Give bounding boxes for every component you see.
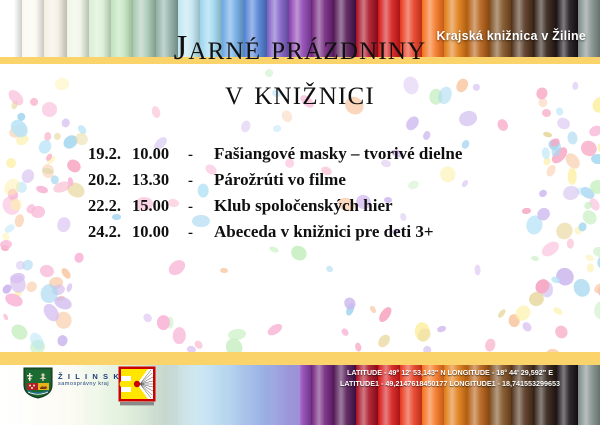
confetti-dot bbox=[25, 280, 39, 294]
confetti-dot bbox=[173, 327, 187, 345]
programme-separator: - bbox=[188, 225, 214, 242]
programme-date: 22.2. bbox=[88, 196, 132, 216]
confetti-dot bbox=[553, 264, 577, 288]
confetti-dot bbox=[539, 239, 561, 260]
confetti-dot bbox=[534, 205, 552, 223]
confetti-dot bbox=[9, 198, 22, 212]
confetti-dot bbox=[25, 203, 37, 215]
confetti-dot bbox=[543, 131, 553, 138]
confetti-dot bbox=[484, 338, 497, 352]
confetti-dot bbox=[1, 176, 23, 199]
programme-event: Klub spoločenských hier bbox=[214, 196, 393, 216]
confetti-dot bbox=[65, 157, 83, 175]
confetti-dot bbox=[415, 326, 433, 344]
confetti-dot bbox=[553, 323, 570, 340]
confetti-dot bbox=[1, 245, 9, 252]
confetti-dot bbox=[41, 163, 56, 179]
confetti-dot bbox=[474, 265, 481, 276]
krajska-kniznica-logo-icon bbox=[118, 366, 156, 406]
programme-event: Fašiangové masky – tvorivé dielne bbox=[214, 144, 462, 164]
confetti-dot bbox=[42, 167, 54, 175]
confetti-dot bbox=[45, 154, 56, 165]
confetti-dot bbox=[56, 295, 66, 302]
confetti-dot bbox=[64, 180, 86, 201]
confetti-dot bbox=[377, 305, 394, 324]
programme-row: 24.2.10.00-Abeceda v knižnici pre deti 3… bbox=[88, 222, 462, 248]
confetti-dot bbox=[546, 138, 561, 153]
confetti-dot bbox=[437, 325, 448, 333]
confetti-dot bbox=[157, 315, 171, 331]
confetti-dot bbox=[527, 290, 547, 309]
confetti-dot bbox=[543, 157, 552, 167]
confetti-dot bbox=[376, 332, 392, 349]
confetti-dot bbox=[552, 306, 563, 316]
confetti-dot bbox=[340, 327, 350, 337]
programme-event: Párožrúti vo filme bbox=[214, 170, 346, 190]
confetti-dot bbox=[403, 114, 420, 132]
programme-time: 10.00 bbox=[132, 222, 188, 242]
confetti-dot bbox=[540, 281, 553, 297]
confetti-dot bbox=[587, 263, 594, 272]
confetti-dot bbox=[345, 302, 356, 316]
confetti-dot bbox=[14, 133, 30, 148]
confetti-dot bbox=[0, 239, 13, 250]
confetti-dot bbox=[39, 283, 60, 305]
confetti-dot bbox=[541, 147, 550, 159]
confetti-dot bbox=[496, 309, 506, 320]
confetti-dot bbox=[550, 138, 562, 148]
confetti-dot bbox=[354, 342, 362, 352]
coordinates-decimal: LATITUDE1 - 49,2147618450177 LONGITUDE1 … bbox=[300, 379, 600, 390]
confetti-dot bbox=[14, 213, 26, 228]
confetti-dot bbox=[588, 197, 600, 213]
confetti-dot bbox=[550, 141, 563, 158]
confetti-dot bbox=[2, 313, 9, 321]
confetti-dot bbox=[48, 275, 64, 289]
confetti-dot bbox=[587, 123, 600, 137]
programme-separator: - bbox=[188, 199, 214, 216]
poster-canvas: Krajská knižnica v Žiline Jarné prázdnin… bbox=[0, 0, 600, 425]
confetti-dot bbox=[575, 186, 587, 198]
programme-row: 19.2.10.00-Fašiangové masky – tvorivé di… bbox=[88, 144, 462, 170]
confetti-dot bbox=[593, 299, 600, 321]
confetti-dot bbox=[1, 282, 14, 295]
confetti-dot bbox=[166, 257, 189, 279]
confetti-dot bbox=[579, 185, 597, 202]
confetti-dot bbox=[521, 207, 530, 214]
confetti-dot bbox=[562, 151, 582, 172]
confetti-dot bbox=[60, 266, 73, 280]
confetti-dot bbox=[16, 261, 25, 271]
confetti-dot bbox=[0, 193, 23, 217]
confetti-dot bbox=[525, 214, 544, 236]
confetti-dot bbox=[513, 302, 534, 324]
confetti-dot bbox=[3, 222, 16, 234]
confetti-dot bbox=[73, 131, 90, 147]
programme-row: 20.2.13.30-Párožrúti vo filme bbox=[88, 170, 462, 196]
confetti-dot bbox=[220, 267, 228, 273]
confetti-dot bbox=[40, 301, 61, 324]
confetti-dot bbox=[591, 154, 600, 165]
confetti-dot bbox=[3, 291, 24, 308]
confetti-dot bbox=[596, 283, 600, 302]
confetti-dot bbox=[597, 141, 600, 155]
programme-date: 24.2. bbox=[88, 222, 132, 242]
confetti-dot bbox=[44, 131, 52, 141]
confetti-dot bbox=[66, 282, 74, 292]
confetti-dot bbox=[52, 179, 72, 195]
confetti-dot bbox=[30, 206, 45, 219]
programme-time: 15.00 bbox=[132, 196, 188, 216]
gps-coordinates: LATITUDE - 49° 12' 53,143" N LONGITUDE -… bbox=[300, 368, 600, 390]
confetti-dot bbox=[266, 321, 285, 338]
confetti-dot bbox=[561, 184, 580, 201]
programme-time: 13.30 bbox=[132, 170, 188, 190]
confetti-dot bbox=[549, 136, 561, 148]
confetti-dot bbox=[567, 131, 578, 145]
programme-date: 19.2. bbox=[88, 144, 132, 164]
confetti-dot bbox=[595, 251, 600, 272]
confetti-dot bbox=[28, 337, 47, 352]
confetti-dot bbox=[36, 185, 49, 195]
confetti-dot bbox=[7, 122, 29, 141]
confetti-dot bbox=[9, 272, 26, 285]
confetti-dot bbox=[549, 145, 569, 166]
confetti-dot bbox=[585, 254, 596, 263]
confetti-dot bbox=[572, 276, 593, 299]
programme-event: Abeceda v knižnici pre deti 3+ bbox=[214, 222, 434, 242]
confetti-dot bbox=[56, 215, 73, 233]
programme-row: 22.2.15.00-Klub spoločenských hier bbox=[88, 196, 462, 222]
confetti-dot bbox=[566, 238, 573, 249]
confetti-dot bbox=[422, 345, 432, 352]
confetti-dot bbox=[76, 124, 88, 136]
confetti-dot bbox=[51, 283, 66, 297]
confetti-dot bbox=[574, 226, 582, 235]
confetti-dot bbox=[369, 305, 378, 314]
accent-bar-bottom bbox=[0, 352, 600, 365]
library-brand-label: Krajská knižnica v Žiline bbox=[436, 29, 586, 43]
confetti-dot bbox=[27, 331, 46, 352]
confetti-dot bbox=[51, 175, 60, 185]
confetti-dot bbox=[555, 116, 571, 132]
confetti-dot bbox=[61, 117, 71, 128]
confetti-dot bbox=[545, 164, 557, 178]
confetti-dot bbox=[223, 335, 246, 352]
confetti-dot bbox=[592, 245, 600, 258]
confetti-dot bbox=[8, 117, 31, 141]
confetti-dot bbox=[45, 153, 53, 162]
confetti-dot bbox=[14, 290, 22, 296]
confetti-dot bbox=[1, 232, 11, 242]
confetti-dot bbox=[61, 133, 80, 152]
confetti-dot bbox=[7, 273, 27, 294]
confetti-dot bbox=[521, 320, 534, 333]
confetti-dot bbox=[342, 296, 358, 312]
confetti-dot bbox=[272, 124, 281, 132]
confetti-dot bbox=[36, 138, 53, 156]
confetti-dot bbox=[325, 264, 334, 273]
confetti-dot bbox=[590, 179, 600, 195]
confetti-dot bbox=[7, 188, 20, 203]
confetti-dot bbox=[538, 188, 548, 198]
confetti-dot bbox=[579, 138, 600, 159]
title-line-2: v knižnici bbox=[0, 71, 600, 116]
zilinsky-kraj-crest-icon bbox=[23, 367, 53, 399]
confetti-dot bbox=[508, 314, 520, 327]
confetti-dot bbox=[496, 118, 510, 133]
programme-list: 19.2.10.00-Fašiangové masky – tvorivé di… bbox=[88, 144, 462, 248]
confetti-dot bbox=[187, 345, 197, 352]
confetti-dot bbox=[414, 322, 431, 342]
confetti-dot bbox=[580, 207, 600, 227]
programme-separator: - bbox=[188, 173, 214, 190]
confetti-dot bbox=[39, 264, 55, 278]
confetti-dot bbox=[53, 132, 61, 140]
confetti-dot bbox=[56, 335, 68, 348]
confetti-dot bbox=[531, 255, 540, 262]
confetti-dot bbox=[52, 294, 73, 312]
confetti-dot bbox=[553, 220, 576, 243]
confetti-dot bbox=[67, 176, 74, 186]
programme-time: 10.00 bbox=[132, 144, 188, 164]
confetti-dot bbox=[582, 200, 593, 210]
confetti-dot bbox=[193, 339, 204, 350]
confetti-dot bbox=[422, 130, 431, 141]
confetti-dot bbox=[14, 180, 30, 196]
confetti-dot bbox=[239, 120, 251, 134]
programme-separator: - bbox=[188, 147, 214, 164]
programme-date: 20.2. bbox=[88, 170, 132, 190]
confetti-dot bbox=[166, 316, 173, 328]
confetti-dot bbox=[20, 167, 37, 185]
confetti-dot bbox=[4, 155, 18, 169]
confetti-dot bbox=[74, 251, 85, 263]
confetti-dot bbox=[142, 312, 154, 324]
confetti-dot bbox=[9, 322, 31, 343]
confetti-dot bbox=[578, 222, 588, 233]
confetti-dot bbox=[592, 281, 600, 296]
confetti-dot bbox=[533, 276, 552, 296]
confetti-dot bbox=[568, 169, 577, 186]
confetti-dot bbox=[21, 257, 35, 272]
confetti-dot bbox=[550, 275, 561, 284]
coordinates-dms: LATITUDE - 49° 12' 53,143" N LONGITUDE -… bbox=[300, 368, 600, 379]
confetti-dot bbox=[54, 311, 72, 330]
confetti-dot bbox=[228, 328, 247, 342]
